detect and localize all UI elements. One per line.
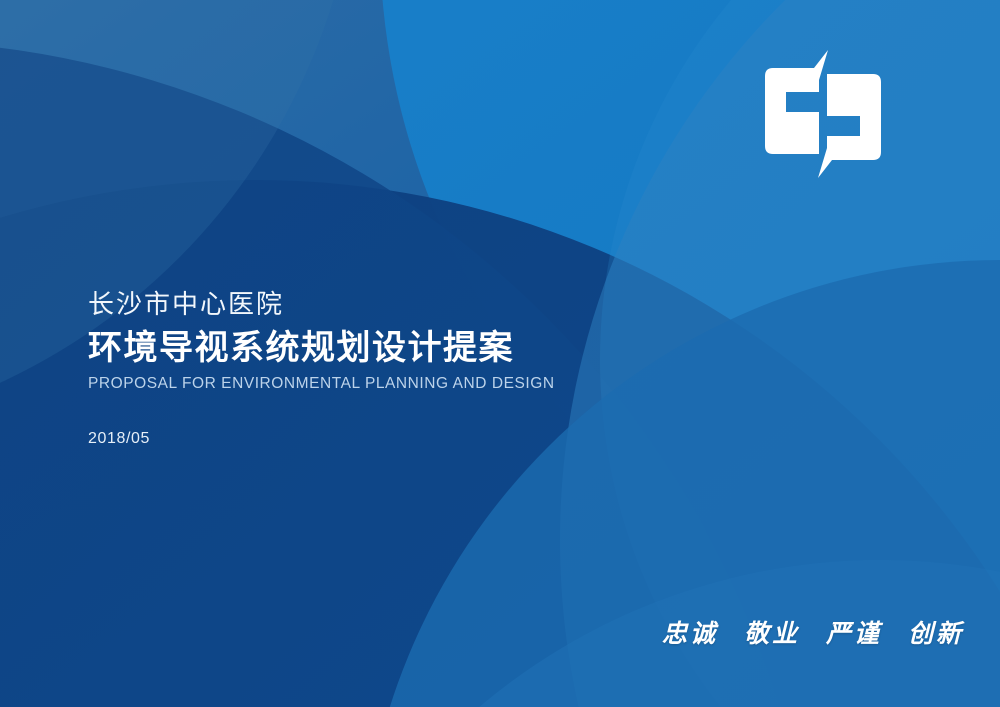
logo-right-bracket xyxy=(818,74,881,178)
subtitle-english: PROPOSAL FOR ENVIRONMENTAL PLANNING AND … xyxy=(88,374,708,395)
title-block: 长沙市中心医院 环境导视系统规划设计提案 PROPOSAL FOR ENVIRO… xyxy=(88,288,708,395)
slogan-word: 创新 xyxy=(908,614,964,650)
hospital-bracket-cross-logo xyxy=(757,50,889,178)
date-label: 2018/05 xyxy=(88,430,150,448)
organization-name: 长沙市中心医院 xyxy=(88,288,708,321)
main-title: 环境导视系统规划设计提案 xyxy=(88,327,708,370)
slogan-word: 忠诚 xyxy=(662,614,718,650)
logo-left-bracket xyxy=(765,50,828,154)
slogan-word: 严谨 xyxy=(826,614,882,650)
slogan-word: 敬业 xyxy=(744,614,800,650)
slogan-row: 忠诚 敬业 严谨 创新 xyxy=(662,614,964,650)
cover-slide: 长沙市中心医院 环境导视系统规划设计提案 PROPOSAL FOR ENVIRO… xyxy=(0,0,1000,707)
